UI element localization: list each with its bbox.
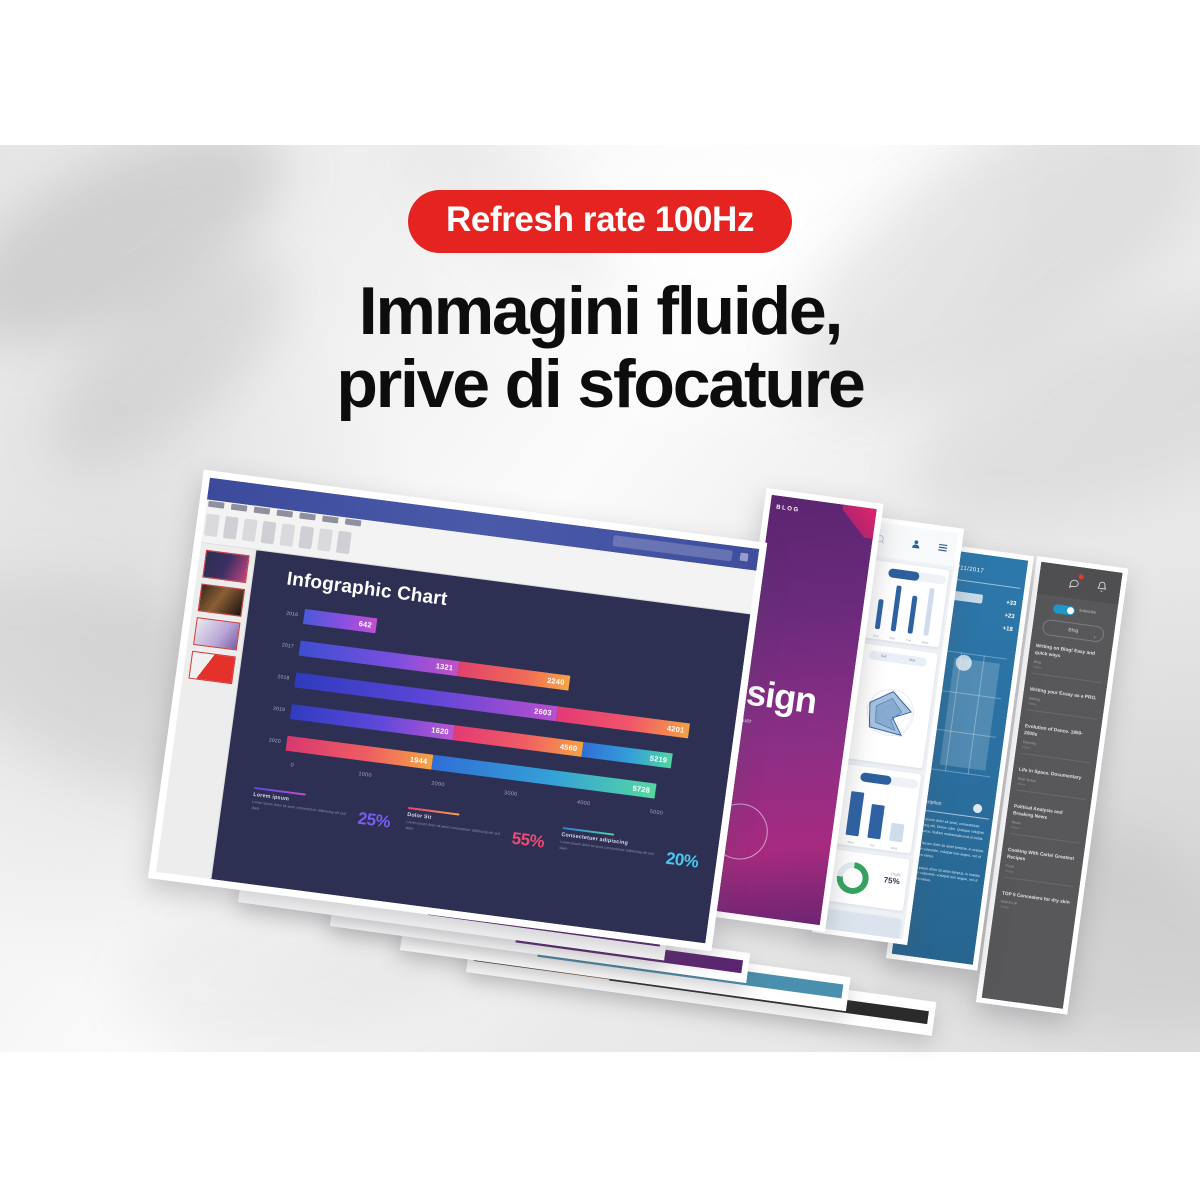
axis-tick: 1000: [358, 771, 372, 779]
stat-item: Consectetuer adipiscing Lorem ipsum dolo…: [557, 824, 701, 884]
notification-badge: [1078, 574, 1084, 580]
tab-design[interactable]: [276, 510, 293, 518]
infographic-bar-chart: 2016 642 2017 1321 2240: [251, 603, 733, 812]
menu-icon[interactable]: [935, 539, 950, 559]
stat-item: Lorem ipsum Lorem ipsum dolor sit amet c…: [249, 784, 393, 844]
arrange-button[interactable]: [317, 528, 333, 551]
bar-label: Tue: [869, 843, 875, 848]
bar-category-label: 2020: [253, 735, 288, 745]
minimize-icon[interactable]: [740, 553, 749, 562]
layout-button[interactable]: [242, 518, 258, 541]
screen-stack: @nameSite THANK YOU! It was very useful: [0, 0, 1200, 1200]
drag-handle[interactable]: [955, 654, 973, 672]
bar-segment: 642: [303, 608, 378, 632]
slide-thumbnail[interactable]: [193, 617, 240, 650]
bar-category-label: 2019: [257, 704, 292, 714]
headline-line-2: prive di sfocature: [0, 348, 1200, 421]
card-weekly-bars[interactable]: Sun Mon Tue Wed: [861, 560, 949, 648]
list-item[interactable]: TOP 5 Concealers for dry skin MAKE-UP Vi…: [1000, 891, 1072, 918]
list-item[interactable]: Writing your Essay as a PRO. Writing Vie…: [1027, 687, 1099, 719]
list-item[interactable]: Political Analysis and Breaking News New…: [1010, 804, 1083, 843]
bar-segment: 1620: [290, 704, 455, 740]
blog-filter-label: Blog: [1068, 627, 1079, 634]
axis-tick: 4000: [576, 800, 590, 808]
mini-bar-chart: [869, 582, 941, 637]
stat-percent: 55%: [510, 829, 545, 853]
kpi-value: +23: [1004, 613, 1015, 620]
headline-line-1: Immagini fluide,: [0, 275, 1200, 348]
card-column-chart[interactable]: Mon Tue Wed: [833, 764, 921, 854]
chart-panel: [940, 658, 1000, 771]
stat-percent: 20%: [665, 849, 700, 873]
axis-tick: 2000: [431, 781, 445, 789]
headline-block: Refresh rate 100Hz Immagini fluide, priv…: [0, 190, 1200, 422]
kpi-value: +18: [1002, 626, 1013, 633]
bar-label: Wed: [921, 640, 928, 645]
list-item[interactable]: Cooking With Carla! Greatest Recipes Foo…: [1004, 848, 1077, 887]
tab-view[interactable]: [345, 518, 362, 526]
tab-insert[interactable]: [254, 507, 271, 515]
bell-icon[interactable]: [1095, 579, 1108, 598]
bar-label: Tue: [906, 638, 912, 643]
slide-canvas[interactable]: Infographic Chart 2016 642 2017: [211, 550, 750, 943]
radar-chart: [851, 663, 931, 761]
period-toggle[interactable]: [888, 568, 947, 585]
bar-label: Wed: [890, 846, 897, 851]
bar-segment: 4201: [556, 706, 691, 738]
axis-tick: 3000: [504, 790, 518, 798]
align-button[interactable]: [279, 523, 295, 546]
user-icon[interactable]: [909, 536, 922, 555]
list-item[interactable]: Evolution of Dance. 1950-2000s Dancing V…: [1021, 724, 1094, 763]
list-item[interactable]: Life in Space. Documentary Real Space Vi…: [1016, 767, 1088, 799]
stat-item: Dolor Sit Lorem ipsum dolor sit amet con…: [403, 804, 547, 864]
axis-tick: 5000: [649, 809, 663, 817]
font-button[interactable]: [261, 521, 277, 544]
segment-option[interactable]: Buy: [897, 654, 927, 667]
screen-presentation-editor[interactable]: Infographic Chart 2016 642 2017: [148, 470, 767, 951]
bar-segment: 1321: [299, 640, 460, 675]
find-button[interactable]: [336, 531, 352, 554]
slide-thumbnail[interactable]: [202, 550, 249, 583]
bar-label: Mon: [847, 840, 854, 845]
segment-option[interactable]: Sell: [869, 650, 899, 663]
tab-home[interactable]: [231, 504, 248, 512]
page-title: Infographic Chart: [285, 569, 448, 612]
bar-segment: 2240: [457, 661, 570, 690]
profit-donut: [835, 860, 871, 896]
profit-readout: Profit 75%: [883, 870, 901, 886]
column-chart: [841, 786, 913, 843]
tab-transitions[interactable]: [299, 513, 316, 521]
purple-subtitle: uer: [742, 718, 751, 725]
period-toggle[interactable]: [860, 772, 919, 789]
kpi-value: +33: [1006, 600, 1017, 607]
new-slide-button[interactable]: [223, 516, 239, 539]
bar-segment: 5219: [581, 741, 673, 768]
tab-file[interactable]: [208, 501, 225, 509]
bar-category-label: 2018: [261, 672, 296, 682]
slide-thumbnail[interactable]: [188, 651, 235, 684]
profit-value: 75%: [883, 875, 900, 886]
slide-thumbnail[interactable]: [198, 583, 245, 616]
card-profit[interactable]: Profit 75%: [825, 849, 909, 911]
shapes-button[interactable]: [298, 526, 314, 549]
paste-button[interactable]: [204, 514, 220, 537]
page-title: Immagini fluide, prive di sfocature: [0, 275, 1200, 422]
bar-category-label: 2016: [270, 609, 305, 619]
bar-label: Mon: [889, 636, 896, 641]
bar-category-label: 2017: [266, 640, 301, 650]
tab-animations[interactable]: [322, 516, 339, 524]
axis-tick: 0: [290, 762, 294, 768]
stat-percent: 25%: [356, 809, 391, 833]
bar-label: Sun: [873, 634, 879, 639]
status-badge: Refresh rate 100Hz: [408, 190, 792, 253]
bar-segment: 4560: [453, 725, 584, 757]
poster-canvas: @nameSite THANK YOU! It was very useful: [0, 0, 1200, 1200]
